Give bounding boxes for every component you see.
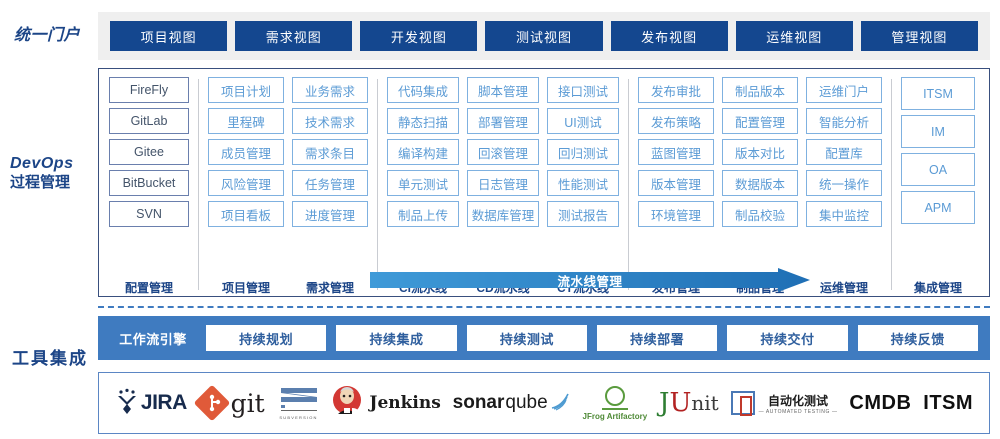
capability-column: 代码集成静态扫描编译构建单元测试制品上传CI流水线 [383, 77, 463, 296]
portal-view-button-1[interactable]: 项目视图 [110, 21, 227, 51]
subversion-logo: SUBVERSION [277, 379, 321, 427]
automated-testing-text: 自动化测试— AUTOMATED TESTING — [759, 392, 838, 415]
jira-mark-icon [115, 388, 139, 419]
capability-cell[interactable]: FireFly [109, 77, 189, 103]
capability-cell[interactable]: 回滚管理 [467, 139, 539, 165]
capability-cell[interactable]: 项目看板 [208, 201, 284, 227]
portal-view-button-3[interactable]: 开发视图 [360, 21, 477, 51]
column-spacer [109, 232, 189, 278]
capability-cell[interactable]: 制品上传 [387, 201, 459, 227]
capability-column: 运维门户智能分析配置库统一操作集中监控运维管理 [802, 77, 886, 296]
subversion-wordmark: SUBVERSION [279, 415, 317, 420]
capability-cell[interactable]: 编译构建 [387, 139, 459, 165]
capability-cell[interactable]: OA [901, 153, 975, 186]
capability-cell[interactable]: 制品版本 [722, 77, 798, 103]
capability-cell[interactable]: 进度管理 [292, 201, 368, 227]
automated-testing-mark-icon [731, 391, 755, 415]
capability-cell[interactable]: 版本对比 [722, 139, 798, 165]
devops-label-cn: 过程管理 [10, 174, 98, 193]
capability-column: 制品版本配置管理版本对比数据版本制品校验制品管理 [718, 77, 802, 296]
jira-logo: JIRA [115, 379, 187, 427]
capability-cell[interactable]: 运维门户 [806, 77, 882, 103]
jira-wordmark: JIRA [141, 391, 187, 415]
jfrog-bar-icon [602, 408, 628, 410]
capability-cell[interactable]: 发布审批 [638, 77, 714, 103]
capability-column: 发布审批发布策略蓝图管理版本管理环境管理发布管理 [634, 77, 718, 296]
column-group-divider [377, 79, 378, 290]
automated-testing-wordmark-en: — AUTOMATED TESTING — [759, 409, 838, 415]
capability-cell[interactable]: 制品校验 [722, 201, 798, 227]
capability-cell[interactable]: 代码集成 [387, 77, 459, 103]
jenkins-butler-icon [332, 384, 362, 423]
column-spacer [208, 232, 284, 278]
capability-column: FireFlyGitLabGiteeBitBucketSVN配置管理 [105, 77, 193, 296]
capability-column-title: 需求管理 [292, 279, 368, 296]
capability-cell[interactable]: 数据库管理 [467, 201, 539, 227]
capability-column-title: 运维管理 [806, 279, 882, 296]
capability-cell[interactable]: 数据版本 [722, 170, 798, 196]
capability-cell[interactable]: UI测试 [547, 108, 619, 134]
capability-cell[interactable]: APM [901, 191, 975, 224]
capability-cell[interactable]: BitBucket [109, 170, 189, 196]
devops-platform-architecture-diagram: 统一门户 项目视图需求视图开发视图测试视图发布视图运维视图管理视图 DevOps… [0, 0, 1000, 439]
workflow-stage-5[interactable]: 持续交付 [727, 325, 847, 351]
column-group-divider [891, 79, 892, 290]
release-artifact-ops-group: 发布审批发布策略蓝图管理版本管理环境管理发布管理制品版本配置管理版本对比数据版本… [634, 77, 886, 296]
capability-cell[interactable]: 配置管理 [722, 108, 798, 134]
git-logo: git [199, 379, 265, 427]
column-spacer [806, 232, 882, 278]
git-diamond-icon [193, 385, 230, 422]
capability-cell[interactable]: 日志管理 [467, 170, 539, 196]
capability-column: 接口测试UI测试回归测试性能测试测试报告CT流水线 [543, 77, 623, 296]
config-group: FireFlyGitLabGiteeBitBucketSVN配置管理 [105, 77, 193, 296]
devops-label-en: DevOps [10, 154, 98, 174]
capability-cell[interactable]: 部署管理 [467, 108, 539, 134]
capability-cell[interactable]: 项目计划 [208, 77, 284, 103]
capability-cell[interactable]: 回归测试 [547, 139, 619, 165]
column-group-divider [628, 79, 629, 290]
column-spacer [901, 229, 975, 278]
capability-cell[interactable]: IM [901, 115, 975, 148]
capability-cell[interactable]: 需求条目 [292, 139, 368, 165]
capability-cell[interactable]: 发布策略 [638, 108, 714, 134]
jfrog-artifactory-logo: JFrog Artifactory [583, 379, 648, 427]
column-spacer [292, 232, 368, 278]
capability-column: 业务需求技术需求需求条目任务管理进度管理需求管理 [288, 77, 372, 296]
capability-column: 脚本管理部署管理回滚管理日志管理数据库管理CD流水线 [463, 77, 543, 296]
git-wordmark: git [231, 389, 265, 418]
capability-cell[interactable]: 测试报告 [547, 201, 619, 227]
capability-cell[interactable]: 成员管理 [208, 139, 284, 165]
capability-cell[interactable]: 环境管理 [638, 201, 714, 227]
portal-view-button-7[interactable]: 管理视图 [861, 21, 978, 51]
capability-column-title: 项目管理 [208, 279, 284, 296]
sonarqube-waves-icon [549, 390, 571, 417]
workflow-stage-4[interactable]: 持续部署 [597, 325, 717, 351]
sonarqube-logo: sonarqube [453, 379, 571, 427]
automated-testing-logo: 自动化测试— AUTOMATED TESTING — [731, 379, 838, 427]
portal-view-button-6[interactable]: 运维视图 [736, 21, 853, 51]
capability-cell[interactable]: 集中监控 [806, 201, 882, 227]
capability-cell[interactable]: 静态扫描 [387, 108, 459, 134]
junit-letter-j: J [659, 388, 669, 418]
capability-column-title: 集成管理 [901, 279, 975, 296]
jfrog-wordmark: JFrog Artifactory [583, 412, 648, 421]
row-label-devops-process-management: DevOps 过程管理 [10, 154, 98, 193]
workflow-engine-label: 工作流引擎 [105, 329, 201, 348]
automated-testing-wordmark-cn: 自动化测试 [768, 392, 828, 409]
portal-view-button-5[interactable]: 发布视图 [611, 21, 728, 51]
pipeline-group: 代码集成静态扫描编译构建单元测试制品上传CI流水线脚本管理部署管理回滚管理日志管… [383, 77, 623, 296]
capability-column: ITSMIMOAAPM集成管理 [897, 77, 979, 296]
pipeline-management-arrow-label: 流水线管理 [370, 271, 810, 290]
capability-cell[interactable]: 性能测试 [547, 170, 619, 196]
capability-cell[interactable]: 任务管理 [292, 170, 368, 196]
sonarqube-wordmark-light: qube [505, 392, 547, 414]
cmdb-logo: CMDB [849, 379, 911, 427]
unified-portal-bar: 项目视图需求视图开发视图测试视图发布视图运维视图管理视图 [98, 12, 990, 60]
section-divider [98, 306, 990, 308]
workflow-stage-1[interactable]: 持续规划 [206, 325, 326, 351]
subversion-mark-icon [277, 386, 321, 414]
jenkins-wordmark: Jenkins [369, 393, 440, 413]
capability-cell[interactable]: 配置库 [806, 139, 882, 165]
capability-cell[interactable]: Gitee [109, 139, 189, 165]
workflow-stage-3[interactable]: 持续测试 [467, 325, 587, 351]
portal-view-button-2[interactable]: 需求视图 [235, 21, 352, 51]
capability-cell[interactable]: 业务需求 [292, 77, 368, 103]
capability-cell[interactable]: GitLab [109, 108, 189, 134]
capability-cell[interactable]: 智能分析 [806, 108, 882, 134]
cmdb-wordmark: CMDB [849, 392, 911, 415]
jfrog-ring-icon [605, 386, 625, 406]
capability-cell[interactable]: 脚本管理 [467, 77, 539, 103]
row-label-unified-portal: 统一门户 [14, 26, 96, 46]
capability-column-title: 配置管理 [109, 279, 189, 296]
junit-letter-u: U [669, 388, 691, 418]
portal-view-button-4[interactable]: 测试视图 [485, 21, 602, 51]
jenkins-logo: Jenkins [332, 379, 440, 427]
devops-capability-panel: FireFlyGitLabGiteeBitBucketSVN配置管理项目计划里程… [98, 68, 990, 297]
capability-cell[interactable]: ITSM [901, 77, 975, 110]
capability-cell[interactable]: 接口测试 [547, 77, 619, 103]
capability-cell[interactable]: 里程碑 [208, 108, 284, 134]
capability-cell[interactable]: 风险管理 [208, 170, 284, 196]
capability-column: 项目计划里程碑成员管理风险管理项目看板项目管理 [204, 77, 288, 296]
capability-cell[interactable]: 版本管理 [638, 170, 714, 196]
tool-logo-strip: JIRAgitSUBVERSIONJenkinssonarqubeJFrog A… [98, 372, 990, 434]
workflow-stage-2[interactable]: 持续集成 [336, 325, 456, 351]
sonarqube-wordmark-bold: sonar [453, 392, 505, 414]
capability-cell[interactable]: 统一操作 [806, 170, 882, 196]
project-demand-group: 项目计划里程碑成员管理风险管理项目看板项目管理业务需求技术需求需求条目任务管理进… [204, 77, 372, 296]
capability-cell[interactable]: 单元测试 [387, 170, 459, 196]
itsm-logo: ITSM [923, 379, 973, 427]
workflow-engine-bar: 工作流引擎 持续规划持续集成持续测试持续部署持续交付持续反馈 [98, 316, 990, 360]
column-group-divider [198, 79, 199, 290]
itsm-wordmark: ITSM [923, 392, 973, 415]
row-label-tool-integration: 工具集成 [12, 348, 98, 369]
capability-cell[interactable]: SVN [109, 201, 189, 227]
capability-cell[interactable]: 蓝图管理 [638, 139, 714, 165]
capability-cell[interactable]: 技术需求 [292, 108, 368, 134]
junit-logo: JUnit [659, 379, 719, 427]
integration-group: ITSMIMOAAPM集成管理 [897, 77, 979, 296]
junit-wordmark-rest: nit [691, 391, 718, 415]
workflow-stage-6[interactable]: 持续反馈 [858, 325, 978, 351]
